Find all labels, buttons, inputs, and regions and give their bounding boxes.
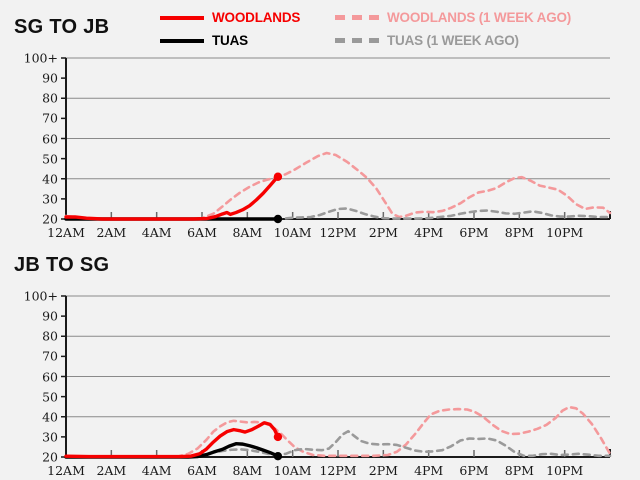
x-axis-tick-label: 2PM xyxy=(369,225,398,240)
series-line xyxy=(66,407,610,457)
series-end-marker xyxy=(274,452,282,460)
x-axis-tick-label: 8PM xyxy=(505,225,534,240)
y-axis-tick-label: 60 xyxy=(42,131,58,146)
x-axis-labels-sg-to-jb: 12AM2AM4AM6AM8AM10AM12PM2PM4PM6PM8PM10PM xyxy=(0,225,640,245)
x-axis-tick-label: 4AM xyxy=(142,463,172,478)
y-axis-tick-label: 80 xyxy=(42,91,58,106)
y-axis-tick-label: 40 xyxy=(42,171,58,186)
y-axis-labels-sg-to-jb: 100+9080706050403020 xyxy=(0,52,62,248)
series-line xyxy=(66,153,610,219)
x-axis-tick-label: 8PM xyxy=(505,463,534,478)
x-axis-tick-label: 12PM xyxy=(319,463,356,478)
x-axis-tick-label: 12AM xyxy=(47,463,85,478)
chart-title-jb-to-sg: JB TO SG xyxy=(14,254,109,277)
y-axis-tick-label: 90 xyxy=(42,71,58,86)
x-axis-tick-label: 4AM xyxy=(142,225,172,240)
y-axis-tick-label: 30 xyxy=(42,429,58,444)
x-axis-tick-label: 10PM xyxy=(546,225,583,240)
y-axis-tick-label: 60 xyxy=(42,369,58,384)
x-axis-tick-label: 10AM xyxy=(274,463,312,478)
x-axis-labels-jb-to-sg: 12AM2AM4AM6AM8AM10AM12PM2PM4PM6PM8PM10PM xyxy=(0,463,640,480)
x-axis-tick-label: 6PM xyxy=(459,225,488,240)
x-axis-tick-label: 10AM xyxy=(274,225,312,240)
y-axis-tick-label: 80 xyxy=(42,329,58,344)
series-line xyxy=(66,177,278,219)
x-axis-tick-label: 6PM xyxy=(459,463,488,478)
plot-svg xyxy=(0,290,640,480)
x-axis-tick-label: 2AM xyxy=(96,225,126,240)
y-axis-tick-label: 100+ xyxy=(24,289,58,304)
chart-title-sg-to-jb: SG TO JB xyxy=(14,16,109,39)
y-axis-tick-label: 70 xyxy=(42,349,58,364)
x-axis-tick-label: 2AM xyxy=(96,463,126,478)
y-axis-tick-label: 100+ xyxy=(24,51,58,66)
series-end-marker xyxy=(274,215,282,223)
y-axis-tick-label: 50 xyxy=(42,151,58,166)
plot-area-jb-to-sg: 100+9080706050403020 12AM2AM4AM6AM8AM10A… xyxy=(0,290,640,480)
series-line xyxy=(66,423,278,457)
y-axis-tick-label: 70 xyxy=(42,111,58,126)
x-axis-tick-label: 4PM xyxy=(414,225,443,240)
x-axis-tick-label: 12AM xyxy=(47,225,85,240)
x-axis-tick-label: 6AM xyxy=(187,225,217,240)
series-end-marker xyxy=(274,173,282,181)
plot-svg xyxy=(0,52,640,248)
x-axis-tick-label: 4PM xyxy=(414,463,443,478)
y-axis-tick-label: 40 xyxy=(42,409,58,424)
y-axis-tick-label: 30 xyxy=(42,191,58,206)
y-axis-tick-label: 50 xyxy=(42,389,58,404)
plot-area-sg-to-jb: 100+9080706050403020 12AM2AM4AM6AM8AM10A… xyxy=(0,52,640,248)
x-axis-tick-label: 2PM xyxy=(369,463,398,478)
x-axis-tick-label: 10PM xyxy=(546,463,583,478)
traffic-chart-page: WOODLANDS WOODLANDS (1 WEEK AGO) TUAS TU… xyxy=(0,0,640,480)
x-axis-tick-label: 12PM xyxy=(319,225,356,240)
x-axis-tick-label: 6AM xyxy=(187,463,217,478)
chart-sg-to-jb: SG TO JB 100+9080706050403020 12AM2AM4AM… xyxy=(0,0,640,248)
y-axis-labels-jb-to-sg: 100+9080706050403020 xyxy=(0,290,62,480)
series-end-marker xyxy=(274,433,282,441)
chart-jb-to-sg: JB TO SG 100+9080706050403020 12AM2AM4AM… xyxy=(0,248,640,480)
x-axis-tick-label: 8AM xyxy=(232,225,262,240)
x-axis-tick-label: 8AM xyxy=(232,463,262,478)
y-axis-tick-label: 90 xyxy=(42,309,58,324)
